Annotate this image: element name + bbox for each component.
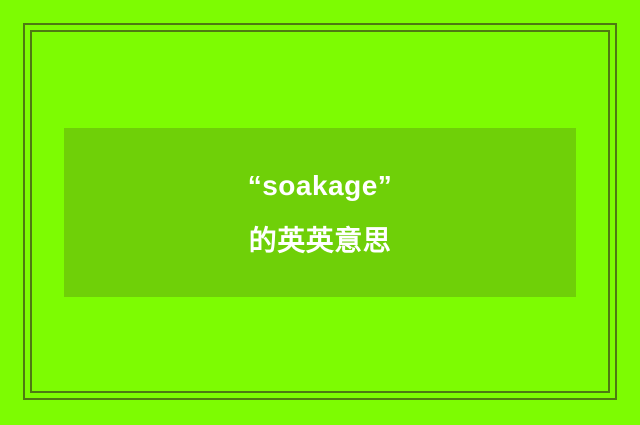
- page-title: “soakage” 的英英意思: [232, 158, 408, 268]
- title-banner-panel: “soakage” 的英英意思: [64, 128, 576, 297]
- page-canvas: “soakage” 的英英意思: [0, 0, 640, 425]
